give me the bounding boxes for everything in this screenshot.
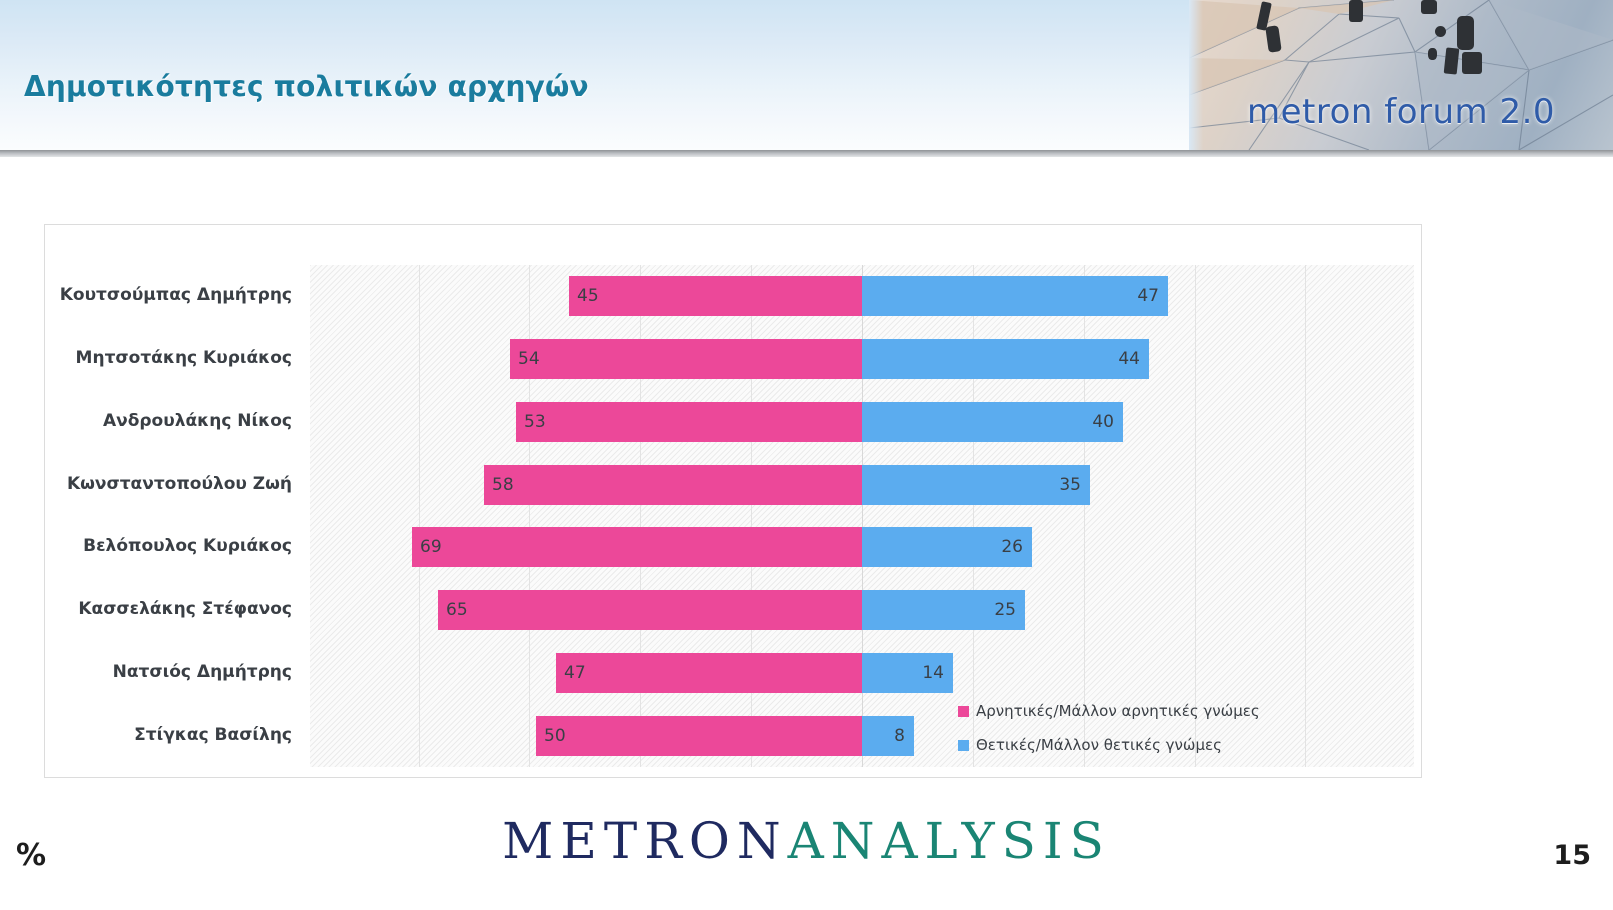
legend-item-negative[interactable]: Αρνητικές/Μάλλον αρνητικές γνώμες [958,694,1318,728]
bar-value-positive: 25 [994,590,1016,630]
logo-figure-6 [1428,48,1437,60]
bar-negative[interactable]: 53 [516,402,862,442]
bar-negative[interactable]: 69 [412,527,862,567]
bar-value-positive: 40 [1092,402,1114,442]
chart-legend: Αρνητικές/Μάλλον αρνητικές γνώμες Θετικέ… [958,694,1318,762]
bar-negative[interactable]: 45 [569,276,862,316]
legend-label-positive: Θετικές/Μάλλον θετικές γνώμες [976,736,1222,754]
logo-figure-4 [1421,0,1437,14]
logo-wordmark: metron forum 2.0 [1189,92,1613,132]
bar-value-positive: 8 [894,716,905,756]
bar-positive[interactable]: 40 [862,402,1123,442]
bar-value-negative: 45 [577,276,599,316]
brand-metron: METRON [502,812,787,870]
category-label: Βελόπουλος Κυριάκος [42,536,292,556]
logo-left-fade [1189,0,1203,150]
bar-row: 5835 [310,465,1414,527]
category-label: Νατσιός Δημήτρης [42,662,292,682]
category-label: Στίγκας Βασίλης [42,725,292,745]
bar-negative[interactable]: 65 [438,590,862,630]
header-divider-highlight [0,157,1613,160]
bar-value-negative: 54 [518,339,540,379]
bar-positive[interactable]: 14 [862,653,953,693]
brand-analysis: ANALYSIS [788,812,1111,870]
legend-swatch-negative [958,706,969,717]
bar-row: 5340 [310,402,1414,464]
category-label: Κασσελάκης Στέφανος [42,599,292,619]
percent-symbol: % [16,838,46,873]
header-divider [0,150,1613,157]
logo-figure-5 [1435,26,1446,37]
bar-value-negative: 50 [544,716,566,756]
bar-positive[interactable]: 25 [862,590,1025,630]
bar-value-negative: 53 [524,402,546,442]
bar-positive[interactable]: 35 [862,465,1090,505]
category-label: Κουτσούμπας Δημήτρης [42,285,292,305]
bar-positive[interactable]: 8 [862,716,914,756]
bar-negative[interactable]: 58 [484,465,862,505]
category-label: Κωνσταντοπούλου Ζωή [42,474,292,494]
bar-row: 5444 [310,339,1414,401]
chart-category-labels: Κουτσούμπας ΔημήτρηςΜητσοτάκης ΚυριάκοςΑ… [40,265,292,767]
bar-row: 6926 [310,527,1414,589]
bar-value-positive: 44 [1118,339,1140,379]
logo-figure-3 [1349,0,1363,22]
slide-page-number: 15 [1553,840,1591,871]
legend-swatch-positive [958,740,969,751]
bar-value-positive: 26 [1001,527,1023,567]
logo-figure-8 [1444,47,1460,74]
legend-item-positive[interactable]: Θετικές/Μάλλον θετικές γνώμες [958,728,1318,762]
chart-plot-area: 4547544453405835692665254714508 [310,265,1414,767]
bar-value-negative: 58 [492,465,514,505]
logo-figure-7 [1457,16,1474,50]
page-title: Δημοτικότητες πολιτικών αρχηγών [24,70,589,103]
bar-negative[interactable]: 47 [556,653,862,693]
bar-value-positive: 14 [922,653,944,693]
bar-positive[interactable]: 44 [862,339,1149,379]
metron-forum-logo: metron forum 2.0 [1189,0,1613,150]
logo-figure-9 [1462,52,1482,74]
bar-positive[interactable]: 26 [862,527,1032,567]
bar-negative[interactable]: 54 [510,339,862,379]
metron-analysis-brand: METRONANALYSIS [0,812,1613,870]
bar-positive[interactable]: 47 [862,276,1168,316]
bar-value-positive: 35 [1059,465,1081,505]
category-label: Ανδρουλάκης Νίκος [42,411,292,431]
legend-label-negative: Αρνητικές/Μάλλον αρνητικές γνώμες [976,702,1260,720]
bar-value-negative: 69 [420,527,442,567]
bar-value-negative: 47 [564,653,586,693]
bar-negative[interactable]: 50 [536,716,862,756]
bar-row: 4547 [310,276,1414,338]
bar-row: 6525 [310,590,1414,652]
bar-value-positive: 47 [1137,276,1159,316]
bar-value-negative: 65 [446,590,468,630]
category-label: Μητσοτάκης Κυριάκος [42,348,292,368]
